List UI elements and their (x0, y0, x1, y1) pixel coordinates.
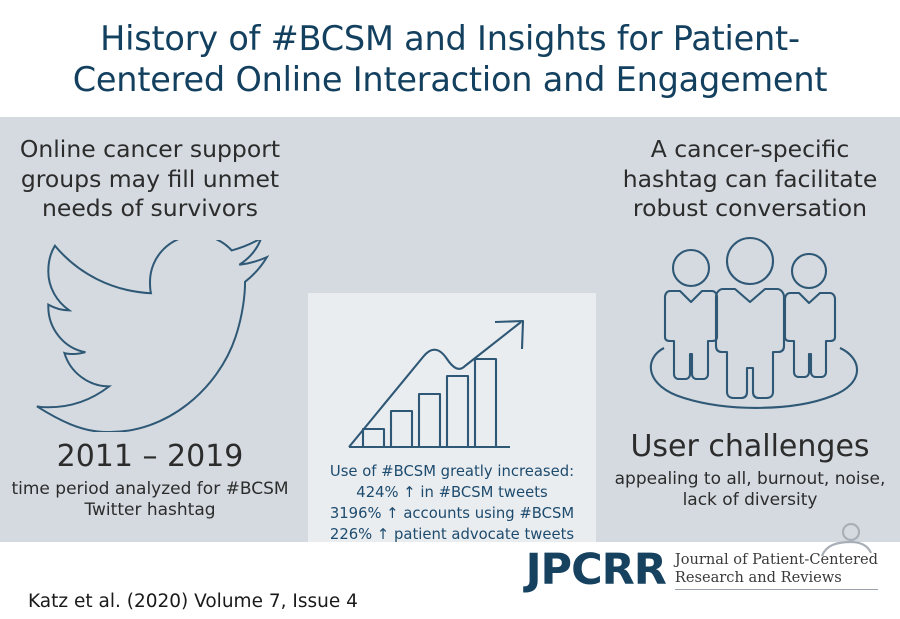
growth-bar-chart-icon-wrap (308, 293, 596, 461)
jpcrr-wordmark: JPCRR (526, 547, 666, 593)
three-people-group-icon (634, 236, 866, 426)
right-column-heading: A cancer-specific hashtag can facilitate… (600, 117, 900, 224)
three-people-group-icon-wrap (600, 232, 900, 430)
statistics-lead: Use of #BCSM greatly increased: (308, 461, 596, 482)
growth-bar-chart-icon (347, 316, 557, 461)
study-period-caption: time period analyzed for #BCSM Twitter h… (0, 479, 300, 522)
logo-divider (675, 589, 878, 590)
left-column-heading: Online cancer support groups may fill un… (0, 117, 300, 224)
study-period: 2011 – 2019 (0, 440, 300, 474)
header: History of #BCSM and Insights for Patien… (0, 0, 900, 117)
infographic-root: History of #BCSM and Insights for Patien… (0, 0, 900, 619)
jpcrr-subtitle-line2: Research and Reviews (675, 569, 878, 587)
left-column: Online cancer support groups may fill un… (0, 117, 300, 522)
citation: Katz et al. (2020) Volume 7, Issue 4 (28, 591, 358, 612)
jpcrr-subtitle-wrap: Journal of Patient-Centered Research and… (675, 551, 878, 593)
right-column: A cancer-specific hashtag can facilitate… (600, 117, 900, 512)
page-title: History of #BCSM and Insights for Patien… (30, 18, 870, 100)
statistic-item-1: 3196% ↑ accounts using #BCSM (308, 503, 596, 524)
statistic-item-0: 424% ↑ in #BCSM tweets (308, 482, 596, 503)
user-challenges-caption: appealing to all, burnout, noise, lack o… (600, 469, 900, 512)
jpcrr-logo: JPCRR Journal of Patient-Centered Resear… (526, 547, 878, 593)
user-challenges-title: User challenges (600, 430, 900, 464)
twitter-bird-icon-wrap (0, 236, 300, 436)
person-silhouette-icon (816, 523, 872, 557)
content-band: Online cancer support groups may fill un… (0, 117, 900, 542)
footer: Katz et al. (2020) Volume 7, Issue 4 JPC… (0, 542, 900, 619)
twitter-bird-icon (31, 240, 269, 432)
